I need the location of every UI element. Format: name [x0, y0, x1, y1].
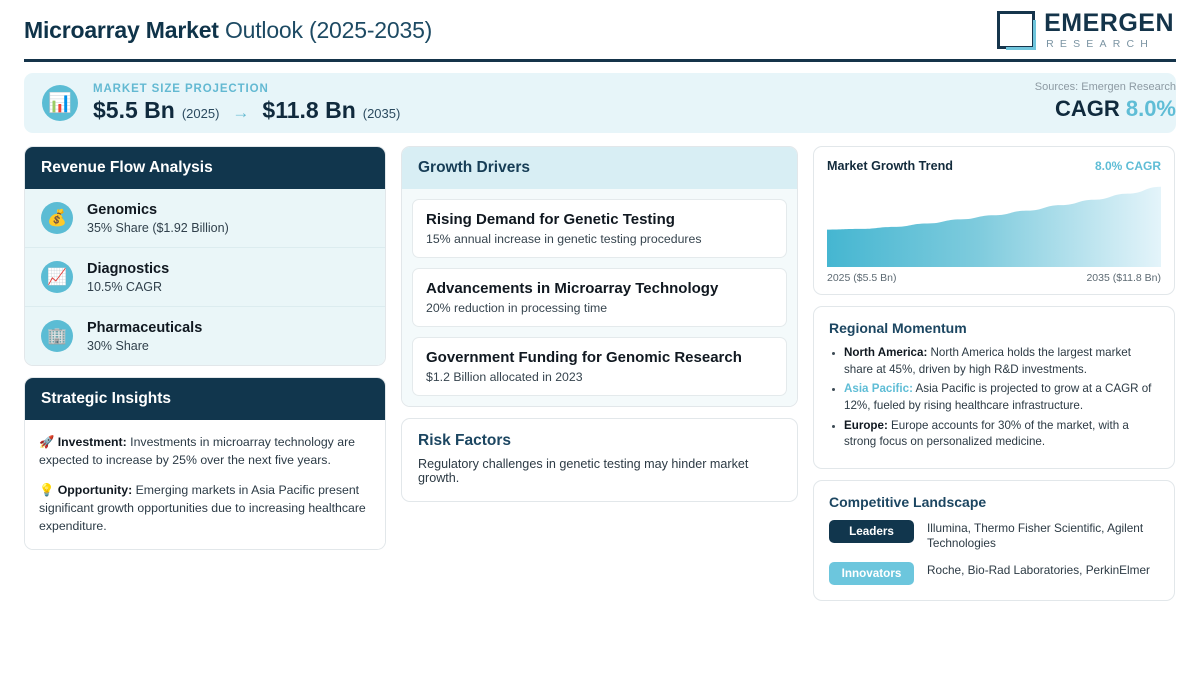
competitive-row: Innovators Roche, Bio-Rad Laboratories, … — [829, 562, 1159, 585]
growth-area-chart-svg — [827, 182, 1161, 267]
competitive-row: Leaders Illumina, Thermo Fisher Scientif… — [829, 520, 1159, 552]
region-label: Asia Pacific: — [844, 382, 913, 395]
flow-row-sub: 10.5% CAGR — [87, 280, 169, 294]
target-year: (2035) — [363, 106, 401, 121]
chart-left-label: 2025 ($5.5 Bn) — [827, 272, 896, 284]
risk-factors-card: Risk Factors Regulatory challenges in ge… — [401, 418, 798, 502]
base-year: (2025) — [182, 106, 220, 121]
growth-drivers-body: Rising Demand for Genetic Testing 15% an… — [402, 189, 797, 406]
page-title: Microarray Market Outlook (2025-2035) — [24, 17, 432, 44]
growth-driver-title: Government Funding for Genomic Research — [426, 349, 773, 366]
flow-row: 🏢 Pharmaceuticals 30% Share — [25, 307, 385, 365]
flow-row-name: Genomics — [87, 201, 229, 219]
flow-row-name: Pharmaceuticals — [87, 319, 202, 337]
chart-increasing-icon: 📈 — [41, 261, 73, 293]
insight-label: Opportunity: — [58, 483, 132, 497]
chart-right-label: 2035 ($11.8 Bn) — [1086, 272, 1161, 284]
logo-subtext: RESEARCH — [1046, 39, 1174, 50]
cagr-value: 8.0% — [1126, 96, 1176, 121]
innovators-companies: Roche, Bio-Rad Laboratories, PerkinElmer — [927, 562, 1150, 578]
strategic-insights-card: Strategic Insights 🚀 Investment: Investm… — [24, 377, 386, 549]
cagr-label: CAGR — [1055, 96, 1120, 121]
right-column: Market Growth Trend 8.0% CAGR — [813, 146, 1175, 601]
chart-cagr-badge: 8.0% CAGR — [1095, 159, 1161, 173]
regional-momentum-list: North America: North America holds the l… — [829, 345, 1159, 451]
page-title-strong: Microarray Market — [24, 17, 219, 43]
chart-title: Market Growth Trend — [827, 159, 953, 173]
banner-label: MARKET SIZE PROJECTION — [93, 83, 400, 95]
flow-row: 💰 Genomics 35% Share ($1.92 Billion) — [25, 189, 385, 248]
money-bag-icon: 💰 — [41, 202, 73, 234]
leaders-badge: Leaders — [829, 520, 914, 543]
growth-driver-item: Government Funding for Genomic Research … — [412, 337, 787, 396]
growth-driver-item: Rising Demand for Genetic Testing 15% an… — [412, 199, 787, 258]
flow-row-sub: 30% Share — [87, 339, 202, 353]
flow-row-sub: 35% Share ($1.92 Billion) — [87, 221, 229, 235]
region-label: Europe: — [844, 419, 888, 432]
insight-item: 💡 Opportunity: Emerging markets in Asia … — [39, 481, 371, 535]
risk-factors-text: Regulatory challenges in genetic testing… — [418, 457, 781, 485]
revenue-flow-card: Revenue Flow Analysis 💰 Genomics 35% Sha… — [24, 146, 386, 366]
logo-wordmark: EMERGEN — [1044, 11, 1174, 36]
middle-column: Growth Drivers Rising Demand for Genetic… — [401, 146, 798, 502]
left-column: Revenue Flow Analysis 💰 Genomics 35% Sha… — [24, 146, 386, 550]
growth-driver-title: Rising Demand for Genetic Testing — [426, 211, 773, 228]
emergen-research-logo: EMERGEN RESEARCH — [997, 11, 1176, 50]
list-item: Asia Pacific: Asia Pacific is projected … — [829, 381, 1159, 414]
market-size-banner: 📊 MARKET SIZE PROJECTION $5.5 Bn (2025) … — [24, 73, 1176, 133]
lightbulb-icon: 💡 — [39, 483, 54, 497]
revenue-flow-body: 💰 Genomics 35% Share ($1.92 Billion) 📈 D… — [25, 189, 385, 365]
growth-drivers-title: Growth Drivers — [402, 147, 797, 189]
growth-drivers-card: Growth Drivers Rising Demand for Genetic… — [401, 146, 798, 407]
page-header: Microarray Market Outlook (2025-2035) EM… — [24, 0, 1176, 60]
insight-label: Investment: — [58, 435, 127, 449]
list-item: North America: North America holds the l… — [829, 345, 1159, 378]
growth-driver-title: Advancements in Microarray Technology — [426, 280, 773, 297]
growth-driver-sub: $1.2 Billion allocated in 2023 — [426, 370, 773, 384]
insight-item: 🚀 Investment: Investments in microarray … — [39, 433, 371, 469]
regional-momentum-card: Regional Momentum North America: North A… — [813, 306, 1175, 469]
strategic-insights-title: Strategic Insights — [25, 378, 385, 420]
arrow-right-icon: → — [232, 103, 249, 123]
regional-momentum-title: Regional Momentum — [829, 320, 1159, 336]
flow-row-name: Diagnostics — [87, 260, 169, 278]
growth-driver-item: Advancements in Microarray Technology 20… — [412, 268, 787, 327]
rocket-icon: 🚀 — [39, 435, 54, 449]
logo-square-icon — [997, 11, 1035, 49]
base-value: $5.5 Bn — [93, 97, 175, 124]
flow-row: 📈 Diagnostics 10.5% CAGR — [25, 248, 385, 307]
growth-driver-sub: 15% annual increase in genetic testing p… — [426, 232, 773, 246]
innovators-badge: Innovators — [829, 562, 914, 585]
strategic-insights-body: 🚀 Investment: Investments in microarray … — [25, 420, 385, 548]
banner-right-block: Sources: Emergen Research CAGR 8.0% — [1035, 81, 1176, 122]
growth-area-chart — [827, 182, 1161, 267]
infographic-page: Microarray Market Outlook (2025-2035) EM… — [0, 0, 1200, 700]
leaders-companies: Illumina, Thermo Fisher Scientific, Agil… — [927, 520, 1159, 552]
competitive-landscape-title: Competitive Landscape — [829, 494, 1159, 510]
region-label: North America: — [844, 346, 927, 359]
office-building-icon: 🏢 — [41, 320, 73, 352]
risk-factors-title: Risk Factors — [418, 432, 781, 450]
list-item: Europe: Europe accounts for 30% of the m… — [829, 418, 1159, 451]
target-value: $11.8 Bn — [262, 97, 355, 124]
bar-chart-icon: 📊 — [42, 85, 78, 121]
competitive-landscape-card: Competitive Landscape Leaders Illumina, … — [813, 480, 1175, 601]
revenue-flow-title: Revenue Flow Analysis — [25, 147, 385, 189]
cagr-headline: CAGR 8.0% — [1035, 96, 1176, 122]
content-columns: Revenue Flow Analysis 💰 Genomics 35% Sha… — [24, 146, 1176, 601]
page-title-light: Outlook (2025-2035) — [219, 17, 432, 43]
growth-driver-sub: 20% reduction in processing time — [426, 301, 773, 315]
market-growth-trend-card: Market Growth Trend 8.0% CAGR — [813, 146, 1175, 295]
sources-text: Sources: Emergen Research — [1035, 81, 1176, 93]
